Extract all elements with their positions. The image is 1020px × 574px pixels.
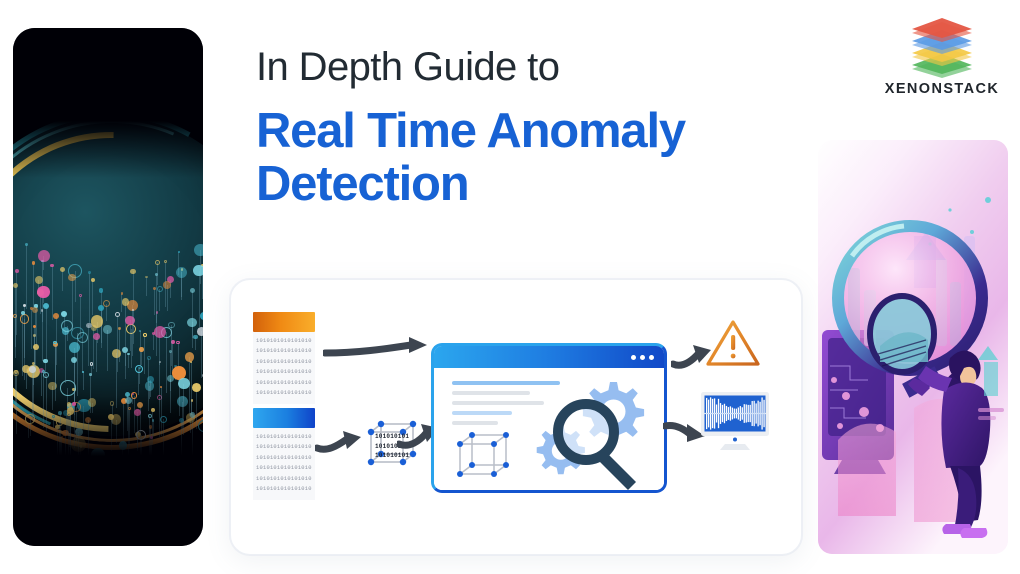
blue-data-source: 1010101010101010 1010101010101010 101010… xyxy=(253,408,315,500)
orange-source-bar xyxy=(253,312,315,332)
window-titlebar xyxy=(434,346,664,368)
brand-logo: XENONSTACK xyxy=(874,14,1010,97)
person-shoe-front xyxy=(960,528,987,538)
person-torso xyxy=(941,382,990,468)
left-hero-image xyxy=(13,28,203,546)
magnifier-analytics-illustration xyxy=(818,140,1008,554)
orange-data-source: 1010101010101010 1010101010101010 101010… xyxy=(253,312,315,404)
monitor-stand xyxy=(720,444,750,450)
headline-title-line-1: Real Time Anomaly xyxy=(256,104,685,158)
anomaly-alert-icon xyxy=(705,318,761,368)
text-line-5 xyxy=(452,421,498,425)
text-line-2 xyxy=(452,391,530,395)
headline-eyebrow: In Depth Guide to xyxy=(256,44,796,91)
arrow-source-to-window xyxy=(323,336,433,362)
bottom-fade-mask xyxy=(13,396,203,546)
magnifier-lens-icon xyxy=(558,404,614,460)
headline-block: In Depth Guide to Real Time Anomaly Dete… xyxy=(256,44,796,211)
arrow-source-to-cube xyxy=(315,426,367,456)
pipeline-diagram: 1010101010101010 1010101010101010 101010… xyxy=(231,280,801,554)
blue-source-binary: 1010101010101010 1010101010101010 101010… xyxy=(253,428,315,500)
monitor-led xyxy=(733,438,737,442)
blue-source-bar xyxy=(253,408,315,428)
poster-canvas: In Depth Guide to Real Time Anomaly Dete… xyxy=(0,0,1020,574)
analysis-window xyxy=(431,343,667,493)
headline-title-line-2: Detection xyxy=(256,157,468,211)
window-dot-1 xyxy=(631,355,636,360)
text-line-4 xyxy=(452,411,512,415)
top-fade-mask xyxy=(13,28,203,178)
window-dot-3 xyxy=(649,355,654,360)
anomaly-detection-pipeline-card: 1010101010101010 1010101010101010 101010… xyxy=(230,279,802,555)
window-cube-wireframe-icon xyxy=(452,430,514,482)
window-body xyxy=(434,368,664,493)
podium-left xyxy=(838,424,896,516)
window-dot-2 xyxy=(640,355,645,360)
monitoring-dashboard-icon xyxy=(699,390,771,452)
text-line-3 xyxy=(452,401,544,405)
orange-source-binary: 1010101010101010 1010101010101010 101010… xyxy=(253,332,315,404)
xenonstack-stacked-layers-logo xyxy=(874,14,1010,80)
right-hero-image xyxy=(818,140,1008,554)
headline-title: Real Time Anomaly Detection xyxy=(256,105,796,211)
magnifier-and-gears-icon xyxy=(532,374,660,492)
brand-name: XENONSTACK xyxy=(874,81,1010,97)
